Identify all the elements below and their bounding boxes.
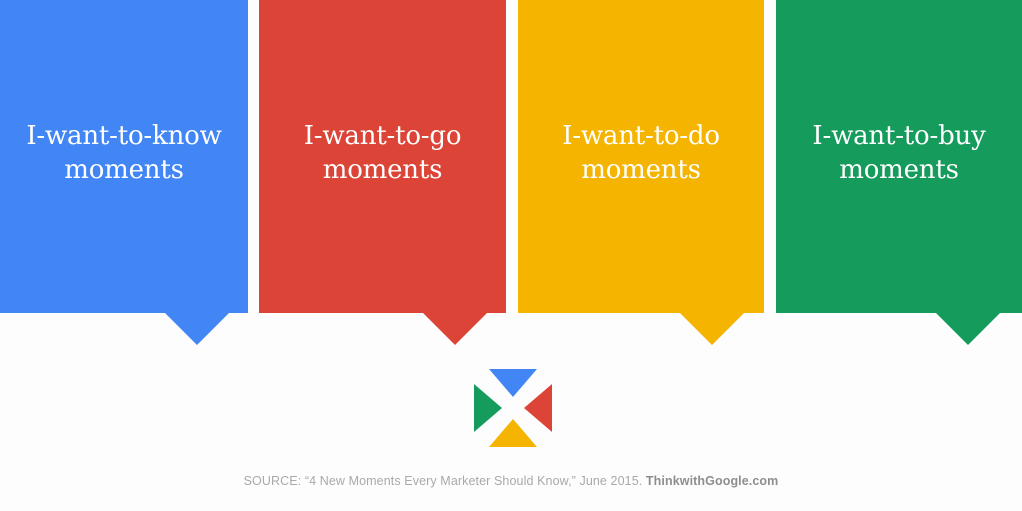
moment-card-line2: moments [581, 155, 701, 185]
x-logo-triangle-bottom-icon [489, 419, 537, 447]
moment-card-i-want-to-know[interactable]: I-want-to-knowmoments [0, 0, 248, 313]
think-with-google-x-logo [472, 367, 554, 449]
infographic-canvas: I-want-to-knowmoments I-want-to-gomoment… [0, 0, 1022, 511]
moment-card-i-want-to-do[interactable]: I-want-to-domoments [518, 0, 764, 313]
x-logo-triangle-left-icon [474, 384, 502, 432]
source-attribution: SOURCE: “4 New Moments Every Marketer Sh… [0, 474, 1022, 488]
moment-card-body: I-want-to-domoments [518, 0, 764, 313]
moment-card-pointer [165, 313, 229, 345]
moment-card-i-want-to-go[interactable]: I-want-to-gomoments [259, 0, 506, 313]
moment-card-pointer [423, 313, 487, 345]
moment-card-line2: moments [64, 155, 184, 185]
moment-card-label: I-want-to-buymoments [804, 120, 993, 187]
moment-card-i-want-to-buy[interactable]: I-want-to-buymoments [776, 0, 1022, 313]
moment-card-pointer [680, 313, 744, 345]
moment-card-label: I-want-to-domoments [554, 120, 728, 187]
moment-card-line1: I-want-to-buy [812, 121, 985, 151]
moment-card-line2: moments [839, 155, 959, 185]
moment-cards-row: I-want-to-knowmoments I-want-to-gomoment… [0, 0, 1022, 346]
moment-card-label: I-want-to-gomoments [296, 120, 470, 187]
x-logo-triangle-right-icon [524, 384, 552, 432]
moment-card-pointer [936, 313, 1000, 345]
moment-card-line1: I-want-to-go [304, 121, 462, 151]
moment-card-body: I-want-to-knowmoments [0, 0, 248, 313]
moment-card-label: I-want-to-knowmoments [18, 120, 229, 187]
moment-card-line1: I-want-to-do [562, 121, 720, 151]
moment-card-line2: moments [323, 155, 443, 185]
moment-card-body: I-want-to-buymoments [776, 0, 1022, 313]
source-text: SOURCE: “4 New Moments Every Marketer Sh… [244, 474, 643, 488]
moment-card-line1: I-want-to-know [26, 121, 221, 151]
moment-card-body: I-want-to-gomoments [259, 0, 506, 313]
x-logo-svg [472, 367, 554, 449]
x-logo-triangle-top-icon [489, 369, 537, 397]
source-brand-link[interactable]: ThinkwithGoogle.com [646, 474, 778, 488]
